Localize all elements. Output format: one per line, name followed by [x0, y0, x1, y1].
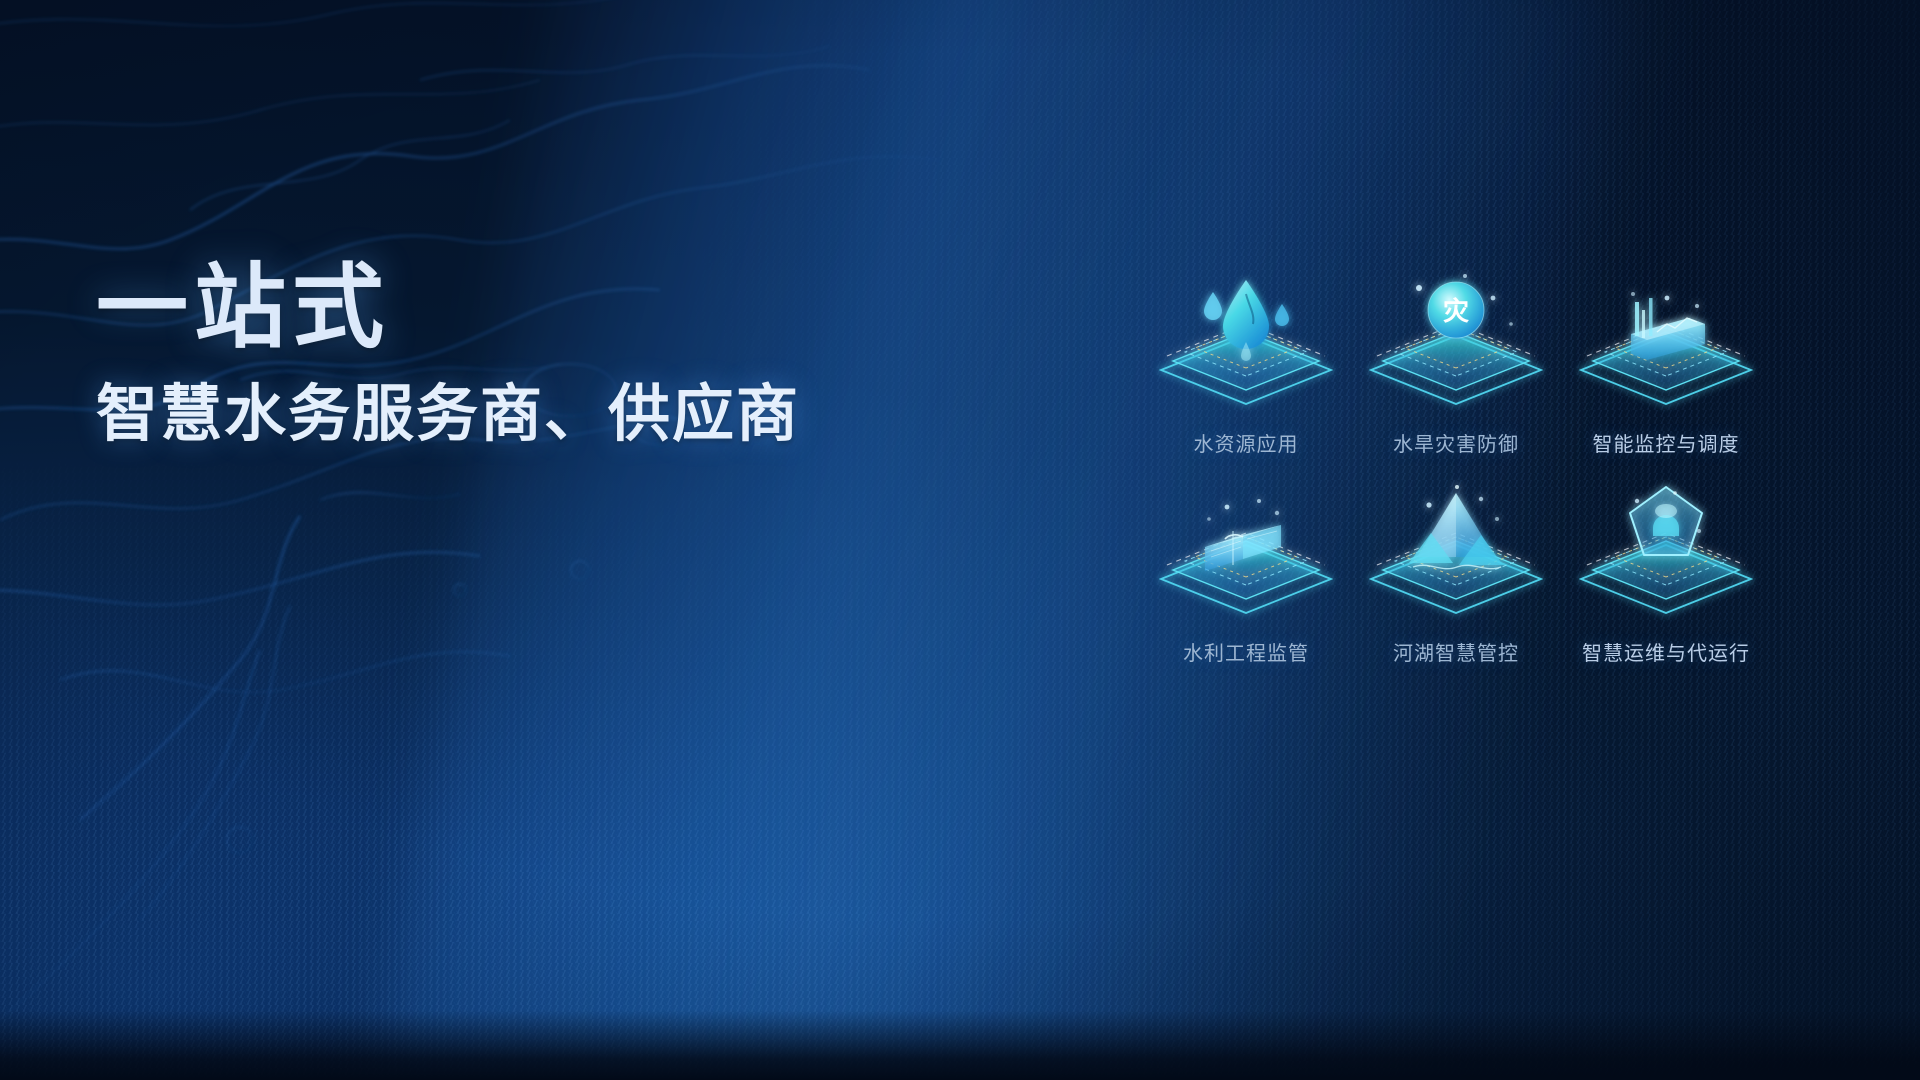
feature-label: 水旱灾害防御 [1393, 428, 1519, 457]
feature-card-river-lake-control[interactable]: 河湖智慧管控 [1358, 481, 1554, 666]
slide-canvas: 一站式 智慧水务服务商、供应商 [0, 0, 1920, 1080]
monitor-screen-platform-icon [1571, 272, 1761, 422]
feature-card-flood-drought-defense[interactable]: 灾 水旱灾害防御 [1358, 272, 1554, 457]
background-bottom-fade [0, 1010, 1920, 1080]
water-drop-platform-icon [1151, 272, 1341, 422]
feature-label: 智慧运维与代运行 [1582, 637, 1750, 666]
feature-card-smart-operation[interactable]: 智慧运维与代运行 [1568, 481, 1764, 666]
disaster-sphere-platform-icon: 灾 [1361, 272, 1551, 422]
feature-label: 智能监控与调度 [1593, 428, 1740, 457]
feature-card-water-project-supervision[interactable]: 水利工程监管 [1148, 481, 1344, 666]
feature-label: 河湖智慧管控 [1393, 637, 1519, 666]
headline-block: 一站式 智慧水务服务商、供应商 [96, 262, 996, 447]
mountain-river-platform-icon [1361, 481, 1551, 631]
feature-card-water-resource[interactable]: 水资源应用 [1148, 272, 1344, 457]
feature-grid: 水资源应用 [1148, 272, 1764, 666]
feature-card-smart-monitoring[interactable]: 智能监控与调度 [1568, 272, 1764, 457]
shield-pentagon-platform-icon [1571, 481, 1761, 631]
page-subtitle: 智慧水务服务商、供应商 [96, 382, 996, 447]
page-title: 一站式 [96, 262, 996, 356]
feature-label: 水利工程监管 [1183, 637, 1309, 666]
dam-structure-platform-icon [1151, 481, 1341, 631]
disaster-badge-glyph: 灾 [1443, 296, 1469, 327]
feature-label: 水资源应用 [1194, 428, 1299, 457]
